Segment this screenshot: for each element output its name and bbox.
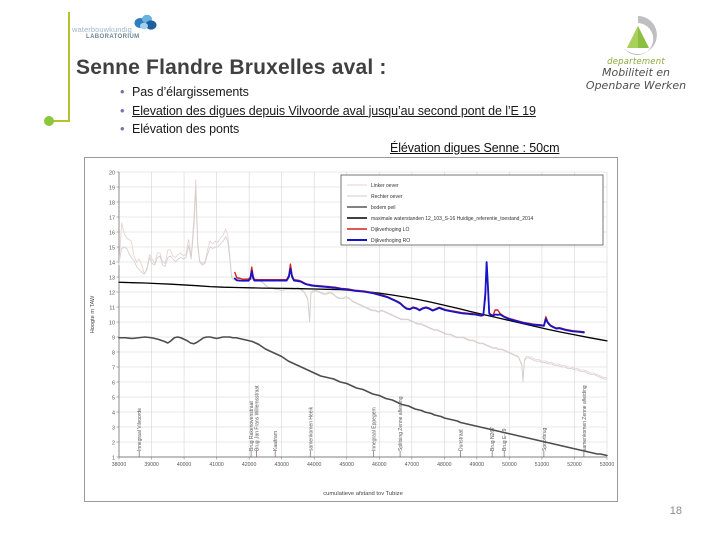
x-tick-label: 51000 <box>535 462 550 468</box>
chart-container: 1234567891011121314151617181920380003900… <box>84 157 618 502</box>
x-tick-label: 41000 <box>209 462 224 468</box>
bullet-text: Elévation des ponts <box>132 122 239 137</box>
page-title: Senne Flandre Bruxelles aval : <box>76 56 387 80</box>
x-tick-label: 38000 <box>112 462 127 468</box>
logo-waterbouwkundig-laboratorium: waterbouwkundig LABORATORIUM <box>72 14 172 46</box>
x-tick-label: 40000 <box>177 462 192 468</box>
slide-page-number: 18 <box>670 505 682 517</box>
y-tick-label: 17 <box>109 215 115 221</box>
x-tick-label: 47000 <box>405 462 420 468</box>
decorative-vertical-rule <box>68 12 70 122</box>
annotation-label: Spoorbrug <box>542 427 548 451</box>
annotation-label: samenkomen Heeik <box>308 406 314 451</box>
x-tick-label: 49000 <box>470 462 485 468</box>
mow-triangle-swirl-icon <box>607 14 665 56</box>
y-tick-label: 12 <box>109 290 115 296</box>
legend-label: Dijkverhoging RO <box>371 238 410 244</box>
water-droplets-icon <box>132 14 158 32</box>
legend-label: Rechter oever <box>371 194 403 200</box>
logo-left-sub: LABORATORIUM <box>86 34 140 40</box>
y-tick-label: 4 <box>112 410 115 416</box>
bullet-dot-icon: • <box>120 85 132 99</box>
logo-right-line1: Mobiliteit en <box>576 67 696 80</box>
logo-left-name: waterbouwkundig <box>72 25 132 34</box>
y-tick-label: 15 <box>109 245 115 251</box>
x-tick-label: 52000 <box>567 462 582 468</box>
x-tick-label: 39000 <box>144 462 159 468</box>
annotation-label: Brug Jan Frans Willemsstraat <box>255 385 261 451</box>
y-tick-label: 11 <box>109 305 115 311</box>
y-tick-label: 7 <box>112 365 115 371</box>
bullet-dot-icon: • <box>120 122 132 136</box>
chart-legend: Linker oeverRechter oeverbodem peilmaxim… <box>341 175 603 245</box>
decorative-green-dot <box>44 116 54 126</box>
x-tick-label: 53000 <box>600 462 615 468</box>
annotation-label: Innegraal Vilvoorde <box>137 408 143 451</box>
bullet-list: • Pas d’élargissements • Elevation des d… <box>120 85 640 141</box>
y-axis-ticks: 1234567891011121314151617181920 <box>109 170 119 461</box>
x-axis-ticks: 3800039000400004100042000430004400045000… <box>112 457 615 468</box>
bullet-text: Pas d’élargissements <box>132 85 249 100</box>
y-tick-label: 6 <box>112 380 115 386</box>
x-tick-label: 46000 <box>372 462 387 468</box>
y-tick-label: 19 <box>109 185 115 191</box>
y-axis-label: Hoogte m TAW <box>90 295 96 333</box>
y-tick-label: 1 <box>112 455 115 461</box>
annotation-label: Brug E-19 <box>502 428 508 451</box>
y-tick-label: 13 <box>109 275 115 281</box>
annotation-label: Splitsing Zenne afleiding <box>398 396 404 451</box>
legend-label: maximale waterstanden 12_103_S-16 Huidig… <box>371 216 534 222</box>
annotation-label: Brug N267 <box>490 427 496 451</box>
chart-caption: Élévation digues Senne : 50cm <box>390 141 559 155</box>
list-item: • Pas d’élargissements <box>120 85 640 100</box>
list-item: • Elévation des ponts <box>120 122 640 137</box>
y-tick-label: 16 <box>109 230 115 236</box>
y-tick-label: 3 <box>112 425 115 431</box>
y-tick-label: 2 <box>112 440 115 446</box>
annotation-label: Innegraal Eppegem <box>371 407 377 451</box>
x-tick-label: 44000 <box>307 462 322 468</box>
y-tick-label: 8 <box>112 350 115 356</box>
bullet-dot-icon: • <box>120 104 132 118</box>
x-tick-label: 48000 <box>437 462 452 468</box>
annotation-label: samenkomen Zenne afleiding <box>582 385 588 451</box>
y-tick-label: 14 <box>109 260 115 266</box>
x-tick-label: 42000 <box>242 462 257 468</box>
x-tick-label: 45000 <box>340 462 355 468</box>
legend-label: Dijkverhoging LO <box>371 227 409 233</box>
x-tick-label: 50000 <box>502 462 517 468</box>
bullet-text: Elevation des digues depuis Vilvoorde av… <box>132 104 536 119</box>
annotation-label: Kaaitram <box>273 431 279 451</box>
elevation-profile-chart: 1234567891011121314151617181920380003900… <box>85 158 619 503</box>
logo-mobiliteit-openbare-werken: departement Mobiliteit en Openbare Werke… <box>576 14 696 96</box>
list-item: • Elevation des digues depuis Vilvoorde … <box>120 104 640 119</box>
y-tick-label: 9 <box>112 335 115 341</box>
legend-label: bodem peil <box>371 205 395 211</box>
x-axis-label: cumulatieve afstand tov Tubize <box>323 491 403 497</box>
y-tick-label: 5 <box>112 395 115 401</box>
x-tick-label: 43000 <box>274 462 289 468</box>
y-tick-label: 10 <box>109 320 115 326</box>
legend-label: Linker oever <box>371 183 399 189</box>
y-tick-label: 20 <box>109 170 115 176</box>
y-tick-label: 18 <box>109 200 115 206</box>
annotation-label: Dunstraat <box>459 429 465 451</box>
